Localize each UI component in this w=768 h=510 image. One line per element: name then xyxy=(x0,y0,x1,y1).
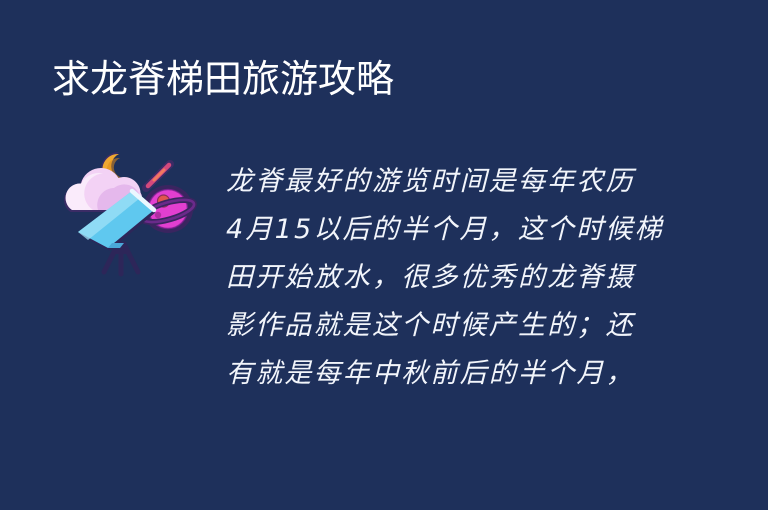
body-line: 4月15以后的半个月，这个时候梯 xyxy=(226,206,658,254)
body-line: 影作品就是这个时候产生的；还 xyxy=(226,302,658,350)
shooting-star-icon xyxy=(146,164,170,188)
body-paragraph: 龙脊最好的游览时间是每年农历 4月15以后的半个月，这个时候梯 田开始放水，很多… xyxy=(226,158,658,398)
night-sky-telescope-illustration xyxy=(58,148,198,278)
page-title: 求龙脊梯田旅游攻略 xyxy=(52,58,394,102)
body-line: 田开始放水，很多优秀的龙脊摄 xyxy=(226,254,658,302)
body-line: 龙脊最好的游览时间是每年农历 xyxy=(226,158,658,206)
slide-canvas: 求龙脊梯田旅游攻略 xyxy=(0,0,768,510)
body-line: 有就是每年中秋前后的半个月， xyxy=(226,350,658,398)
